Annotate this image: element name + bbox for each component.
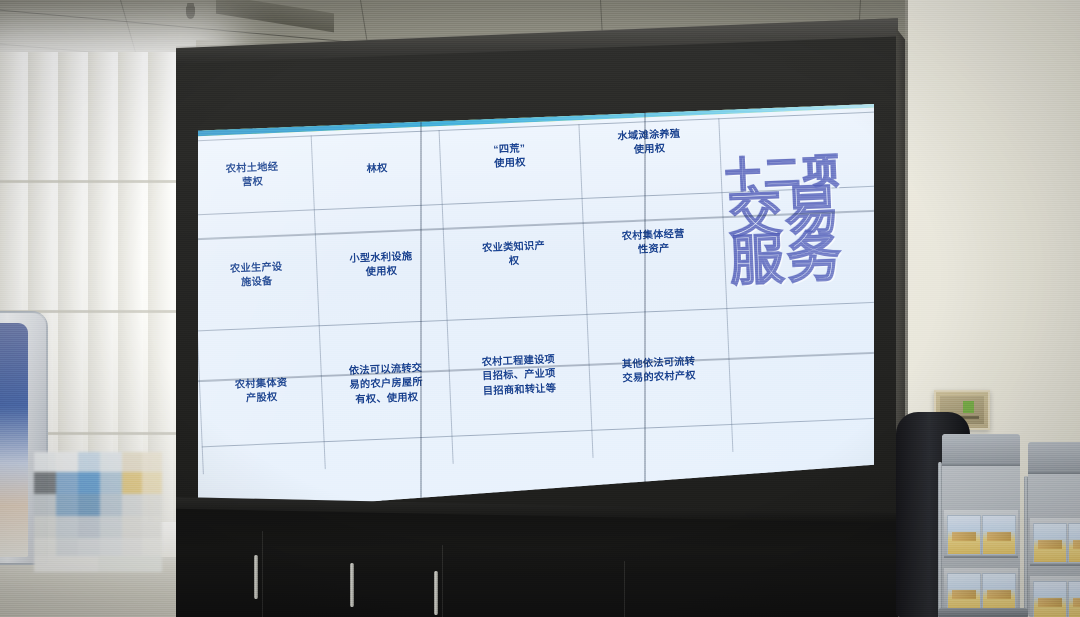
slide-body: 农村土地经 营权 林权 “四荒” 使用权 水域滩涂养殖 使用权 农业生产设 施设… <box>198 107 874 485</box>
rack-shelf <box>1030 576 1080 617</box>
brochure-rack[interactable] <box>1028 442 1080 617</box>
table-cell: 小型水利设施 使用权 <box>319 249 442 283</box>
service-table: 农村土地经 营权 林权 “四荒” 使用权 水域滩涂养殖 使用权 农业生产设 施设… <box>198 111 874 474</box>
cabinet-handle[interactable] <box>350 563 354 607</box>
brochure-rack[interactable] <box>942 434 1020 617</box>
cabinet-handle[interactable] <box>434 571 438 615</box>
display-base-cabinet[interactable] <box>176 497 898 617</box>
brochure-leaflet[interactable] <box>947 515 981 555</box>
plaque-green-mark <box>963 401 974 413</box>
video-wall-screen[interactable]: 二、平台基本功能 山东农村产权交易中心滕州市服务中心 Shandong Rura <box>198 104 874 514</box>
mosaic-censored-region <box>34 452 162 572</box>
brochure-leaflet[interactable] <box>1033 581 1067 617</box>
table-cell: 农村集体经营 性资产 <box>585 227 722 262</box>
table-cell: 依法可以流转交 易的农户房屋所 有权、使用权 <box>324 361 448 410</box>
table-cell: 农业类知识产 权 <box>445 238 582 273</box>
table-cell: 林权 <box>316 160 439 180</box>
brochure-leaflet[interactable] <box>1068 581 1080 617</box>
brochure-rack-group <box>900 420 1080 617</box>
table-cell: 农业生产设 施设备 <box>198 260 315 294</box>
rack-header-panel <box>942 434 1020 466</box>
rack-header-panel <box>1028 442 1080 474</box>
table-cell: 农村集体资 产股权 <box>203 376 320 410</box>
rack-base <box>938 608 1028 617</box>
rack-shelf <box>944 510 1018 558</box>
table-cell: 农村工程建设项 目招标、产业项 目招商和转让等 <box>450 352 588 401</box>
table-cell: 水域滩涂养殖 使用权 <box>581 127 718 162</box>
slide-surface: 二、平台基本功能 山东农村产权交易中心滕州市服务中心 Shandong Rura <box>198 104 874 514</box>
rack-post <box>938 462 942 617</box>
screenshot-scene: 二、平台基本功能 山东农村产权交易中心滕州市服务中心 Shandong Rura <box>0 0 1080 617</box>
kiosk-glare <box>0 313 46 413</box>
brochure-leaflet[interactable] <box>982 515 1016 555</box>
cabinet-handle[interactable] <box>254 555 258 599</box>
brochure-leaflet[interactable] <box>947 573 981 613</box>
table-cell: 农村土地经 营权 <box>198 160 311 194</box>
brochure-leaflet[interactable] <box>1033 523 1067 563</box>
table-cell: 其他依法可流转 交易的农村产权 <box>590 354 727 389</box>
brochure-leaflet[interactable] <box>982 573 1016 613</box>
rack-shelf <box>1030 518 1080 566</box>
table-cell: “四荒” 使用权 <box>441 141 578 176</box>
brochure-leaflet[interactable] <box>1068 523 1080 563</box>
rack-post <box>1024 476 1028 617</box>
